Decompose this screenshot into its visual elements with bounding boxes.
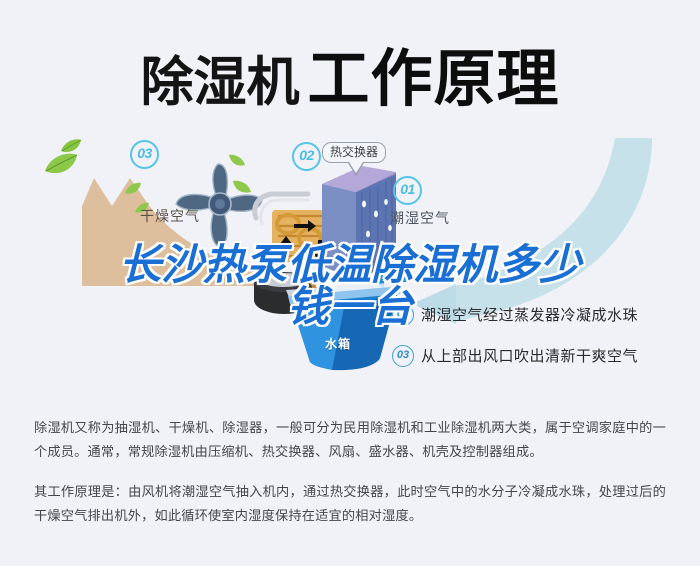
- step-badge: 03: [392, 345, 414, 367]
- step-list: 02 潮湿空气经过蒸发器冷凝成水珠 03 从上部出风口吹出清新干爽空气: [392, 300, 692, 382]
- label-dry-air: 干燥空气: [140, 206, 200, 226]
- body-copy: 除湿机又称为抽湿机、干燥机、除湿器，一般可分为民用除湿机和工业除湿机两大类，属于…: [34, 416, 666, 528]
- page-title-part2: 工作原理: [307, 45, 559, 114]
- step-badge: 02: [392, 304, 414, 326]
- step-text: 潮湿空气经过蒸发器冷凝成水珠: [421, 304, 638, 325]
- list-item: 03 从上部出风口吹出清新干爽空气: [392, 341, 692, 370]
- label-water-tank: 水箱: [325, 335, 351, 352]
- leaf-icon: [124, 182, 142, 195]
- leaf-icon: [44, 153, 78, 175]
- label-humid-air: 潮湿空气: [390, 208, 450, 228]
- dehumidifier-diagram: 03 02 01 热交换器 干燥空气 潮湿空气 水箱 02 潮湿空气经过蒸发器冷…: [0, 118, 700, 403]
- infographic-page: 除湿机工作原理: [0, 0, 700, 566]
- paragraph-1: 除湿机又称为抽湿机、干燥机、除湿器，一般可分为民用除湿机和工业除湿机两大类，属于…: [34, 416, 666, 464]
- water-tank-icon: [280, 278, 410, 388]
- heat-exchanger-callout: 热交换器: [322, 142, 386, 163]
- paragraph-2: 其工作原理是：由风机将潮湿空气抽入机内，通过热交换器，此时空气中的水分子冷凝成水…: [34, 480, 666, 528]
- leaf-icon: [60, 138, 82, 154]
- list-item: 02 潮湿空气经过蒸发器冷凝成水珠: [392, 300, 692, 329]
- badge-01: 01: [393, 176, 422, 205]
- page-title-part1: 除湿机: [140, 53, 299, 112]
- page-title: 除湿机工作原理: [0, 28, 700, 118]
- step-text: 从上部出风口吹出清新干爽空气: [421, 345, 638, 366]
- badge-02: 02: [292, 142, 321, 171]
- badge-03: 03: [130, 140, 159, 169]
